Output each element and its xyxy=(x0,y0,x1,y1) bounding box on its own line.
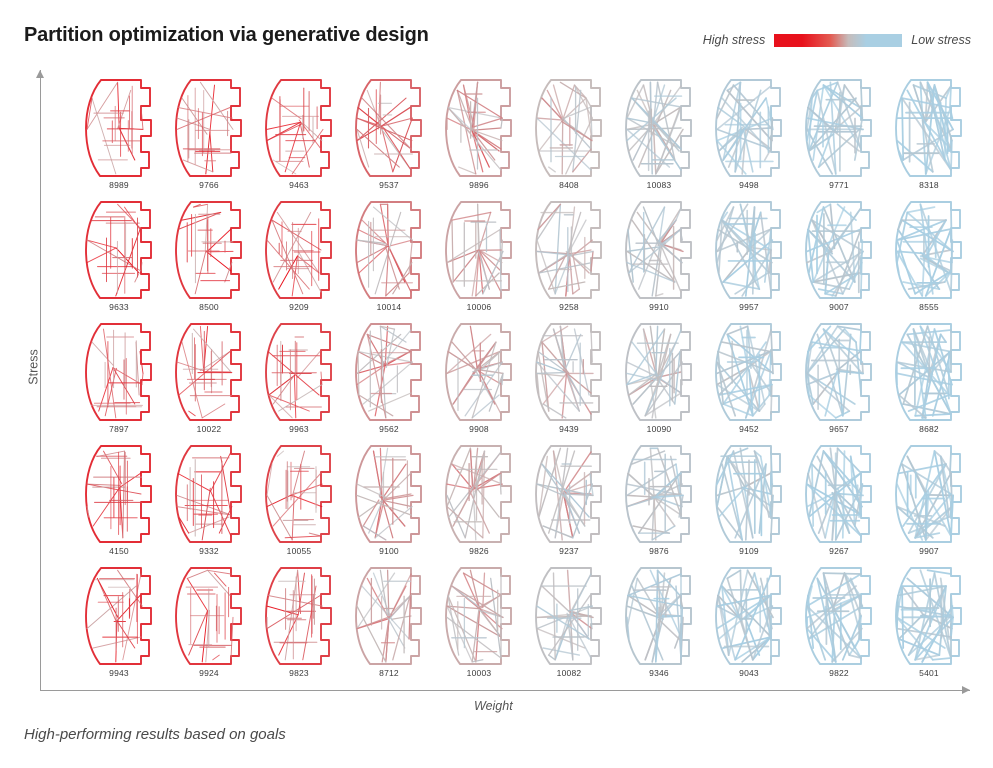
design-cell[interactable]: 9907 xyxy=(884,442,974,564)
figure-caption: High-performing results based on goals xyxy=(24,726,286,743)
design-cell[interactable]: 9237 xyxy=(524,442,614,564)
design-value-label: 8555 xyxy=(884,302,974,312)
design-value-label: 9963 xyxy=(254,424,344,434)
design-value-label: 9007 xyxy=(794,302,884,312)
partition-design-thumbnail xyxy=(351,320,427,424)
design-value-label: 10003 xyxy=(434,668,524,678)
design-value-label: 9826 xyxy=(434,546,524,556)
design-cell[interactable]: 9766 xyxy=(164,76,254,198)
design-value-label: 9463 xyxy=(254,180,344,190)
design-value-label: 9267 xyxy=(794,546,884,556)
legend-high-label: High stress xyxy=(703,33,766,47)
partition-design-thumbnail xyxy=(621,76,697,180)
page-root: Partition optimization via generative de… xyxy=(0,0,993,768)
design-value-label: 9237 xyxy=(524,546,614,556)
design-value-label: 8318 xyxy=(884,180,974,190)
partition-design-thumbnail xyxy=(801,442,877,546)
design-value-label: 10083 xyxy=(614,180,704,190)
partition-design-thumbnail xyxy=(171,198,247,302)
partition-design-thumbnail xyxy=(261,198,337,302)
design-value-label: 9452 xyxy=(704,424,794,434)
partition-design-thumbnail xyxy=(441,76,517,180)
design-cell[interactable]: 9043 xyxy=(704,564,794,686)
partition-design-thumbnail xyxy=(81,76,157,180)
design-cell[interactable]: 9633 xyxy=(74,198,164,320)
design-cell[interactable]: 9822 xyxy=(794,564,884,686)
partition-design-thumbnail xyxy=(531,320,607,424)
design-value-label: 9043 xyxy=(704,668,794,678)
design-value-label: 9109 xyxy=(704,546,794,556)
partition-design-thumbnail xyxy=(621,442,697,546)
partition-design-thumbnail xyxy=(891,320,967,424)
design-value-label: 9907 xyxy=(884,546,974,556)
design-value-label: 9908 xyxy=(434,424,524,434)
design-cell[interactable]: 9007 xyxy=(794,198,884,320)
partition-design-thumbnail xyxy=(441,442,517,546)
design-cell[interactable]: 9209 xyxy=(254,198,344,320)
design-cell[interactable]: 9896 xyxy=(434,76,524,198)
design-cell[interactable]: 8989 xyxy=(74,76,164,198)
design-cell[interactable]: 8500 xyxy=(164,198,254,320)
design-cell[interactable]: 9498 xyxy=(704,76,794,198)
partition-design-thumbnail xyxy=(801,564,877,668)
design-value-label: 9876 xyxy=(614,546,704,556)
design-cell[interactable]: 9452 xyxy=(704,320,794,442)
design-value-label: 9823 xyxy=(254,668,344,678)
design-cell[interactable]: 9100 xyxy=(344,442,434,564)
design-value-label: 9766 xyxy=(164,180,254,190)
partition-design-thumbnail xyxy=(81,564,157,668)
partition-design-thumbnail xyxy=(81,198,157,302)
design-cell[interactable]: 10083 xyxy=(614,76,704,198)
partition-design-thumbnail xyxy=(531,198,607,302)
design-cell[interactable]: 10022 xyxy=(164,320,254,442)
design-value-label: 8682 xyxy=(884,424,974,434)
design-cell[interactable]: 9537 xyxy=(344,76,434,198)
design-cell[interactable]: 10014 xyxy=(344,198,434,320)
design-cell[interactable]: 7897 xyxy=(74,320,164,442)
design-value-label: 9498 xyxy=(704,180,794,190)
partition-design-thumbnail xyxy=(531,564,607,668)
design-value-label: 5401 xyxy=(884,668,974,678)
design-value-label: 8408 xyxy=(524,180,614,190)
partition-design-thumbnail xyxy=(621,564,697,668)
design-cell[interactable]: 8555 xyxy=(884,198,974,320)
partition-design-thumbnail xyxy=(801,198,877,302)
design-cell[interactable]: 9963 xyxy=(254,320,344,442)
design-cell[interactable]: 9562 xyxy=(344,320,434,442)
design-cell[interactable]: 9258 xyxy=(524,198,614,320)
design-value-label: 9896 xyxy=(434,180,524,190)
partition-design-thumbnail xyxy=(711,320,787,424)
partition-design-thumbnail xyxy=(531,442,607,546)
design-cell[interactable]: 9439 xyxy=(524,320,614,442)
design-value-label: 9957 xyxy=(704,302,794,312)
design-value-label: 10006 xyxy=(434,302,524,312)
design-value-label: 7897 xyxy=(74,424,164,434)
design-value-label: 4150 xyxy=(74,546,164,556)
design-value-label: 8500 xyxy=(164,302,254,312)
design-value-label: 9562 xyxy=(344,424,434,434)
design-cell[interactable]: 9346 xyxy=(614,564,704,686)
legend-gradient-bar xyxy=(774,34,902,47)
design-value-label: 9346 xyxy=(614,668,704,678)
partition-design-thumbnail xyxy=(351,198,427,302)
design-value-label: 9657 xyxy=(794,424,884,434)
partition-design-thumbnail xyxy=(171,442,247,546)
partition-design-thumbnail xyxy=(441,198,517,302)
design-cell[interactable]: 9109 xyxy=(704,442,794,564)
partition-design-thumbnail xyxy=(441,564,517,668)
design-cell[interactable]: 10055 xyxy=(254,442,344,564)
design-value-label: 9910 xyxy=(614,302,704,312)
partition-design-thumbnail xyxy=(261,564,337,668)
design-cell[interactable]: 10006 xyxy=(434,198,524,320)
design-value-label: 9332 xyxy=(164,546,254,556)
partition-design-thumbnail xyxy=(531,76,607,180)
design-value-label: 10090 xyxy=(614,424,704,434)
design-value-label: 9258 xyxy=(524,302,614,312)
legend-low-label: Low stress xyxy=(911,33,971,47)
design-cell[interactable]: 9910 xyxy=(614,198,704,320)
partition-design-thumbnail xyxy=(81,442,157,546)
partition-design-thumbnail xyxy=(621,320,697,424)
partition-design-thumbnail xyxy=(171,76,247,180)
design-value-label: 8989 xyxy=(74,180,164,190)
design-cell[interactable]: 9876 xyxy=(614,442,704,564)
design-cell[interactable]: 10003 xyxy=(434,564,524,686)
design-value-label: 10022 xyxy=(164,424,254,434)
partition-design-thumbnail xyxy=(891,564,967,668)
design-cell[interactable]: 9826 xyxy=(434,442,524,564)
design-cell[interactable]: 10082 xyxy=(524,564,614,686)
partition-design-thumbnail xyxy=(261,320,337,424)
partition-design-thumbnail xyxy=(351,564,427,668)
weight-axis-line xyxy=(40,690,970,691)
design-value-label: 9822 xyxy=(794,668,884,678)
design-grid: 8989976694639537989684081008394989771831… xyxy=(74,76,974,688)
partition-design-thumbnail xyxy=(81,320,157,424)
design-cell[interactable]: 8318 xyxy=(884,76,974,198)
design-cell[interactable]: 9924 xyxy=(164,564,254,686)
design-cell[interactable]: 8408 xyxy=(524,76,614,198)
partition-design-thumbnail xyxy=(891,442,967,546)
partition-design-thumbnail xyxy=(261,442,337,546)
partition-design-thumbnail xyxy=(441,320,517,424)
partition-design-thumbnail xyxy=(261,76,337,180)
design-value-label: 9924 xyxy=(164,668,254,678)
design-cell[interactable]: 9657 xyxy=(794,320,884,442)
weight-axis-label: Weight xyxy=(465,699,522,713)
partition-design-thumbnail xyxy=(351,76,427,180)
partition-design-thumbnail xyxy=(171,564,247,668)
design-value-label: 8712 xyxy=(344,668,434,678)
design-cell[interactable]: 9908 xyxy=(434,320,524,442)
design-value-label: 9633 xyxy=(74,302,164,312)
design-cell[interactable]: 8682 xyxy=(884,320,974,442)
partition-design-thumbnail xyxy=(891,198,967,302)
design-cell[interactable]: 9463 xyxy=(254,76,344,198)
partition-design-thumbnail xyxy=(711,76,787,180)
design-value-label: 10014 xyxy=(344,302,434,312)
design-value-label: 10055 xyxy=(254,546,344,556)
partition-design-thumbnail xyxy=(801,76,877,180)
partition-design-thumbnail xyxy=(171,320,247,424)
partition-design-thumbnail xyxy=(891,76,967,180)
partition-design-thumbnail xyxy=(711,198,787,302)
design-cell[interactable]: 5401 xyxy=(884,564,974,686)
partition-design-thumbnail xyxy=(711,442,787,546)
partition-design-thumbnail xyxy=(801,320,877,424)
stress-legend: High stress Low stress xyxy=(703,33,971,47)
partition-design-thumbnail xyxy=(351,442,427,546)
partition-design-thumbnail xyxy=(621,198,697,302)
design-cell[interactable]: 9267 xyxy=(794,442,884,564)
design-cell[interactable]: 4150 xyxy=(74,442,164,564)
design-value-label: 9209 xyxy=(254,302,344,312)
design-value-label: 9943 xyxy=(74,668,164,678)
design-cell[interactable]: 9332 xyxy=(164,442,254,564)
stress-axis-label: Stress xyxy=(27,349,41,384)
design-cell[interactable]: 9771 xyxy=(794,76,884,198)
design-value-label: 9100 xyxy=(344,546,434,556)
design-cell[interactable]: 8712 xyxy=(344,564,434,686)
design-value-label: 9439 xyxy=(524,424,614,434)
design-value-label: 9771 xyxy=(794,180,884,190)
design-cell[interactable]: 9943 xyxy=(74,564,164,686)
design-cell[interactable]: 9957 xyxy=(704,198,794,320)
design-value-label: 9537 xyxy=(344,180,434,190)
design-cell[interactable]: 10090 xyxy=(614,320,704,442)
design-cell[interactable]: 9823 xyxy=(254,564,344,686)
partition-design-thumbnail xyxy=(711,564,787,668)
design-value-label: 10082 xyxy=(524,668,614,678)
page-title: Partition optimization via generative de… xyxy=(24,24,429,47)
